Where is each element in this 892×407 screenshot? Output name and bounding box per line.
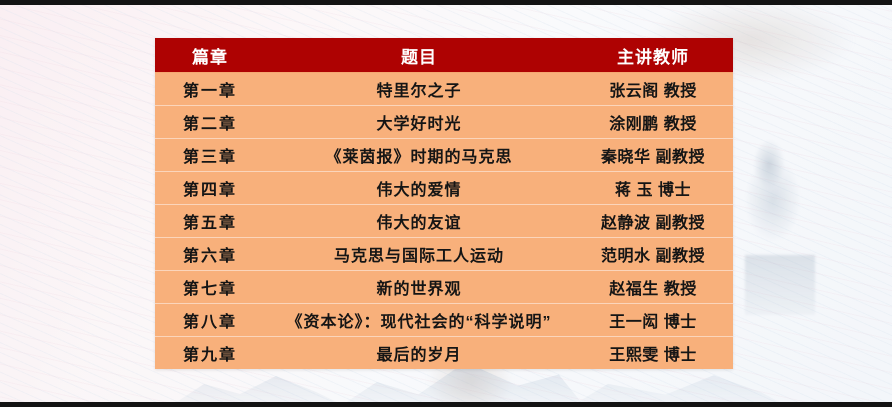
cell-title: 《资本论》：现代社会的“科学说明” [265,304,573,337]
slide-canvas: 篇章 题目 主讲教师 第一章特里尔之子张云阁 教授第二章大学好时光涂刚鹏 教授第… [0,0,892,407]
cell-chapter: 第九章 [155,337,265,370]
cell-lecturer: 赵福生 教授 [573,271,733,304]
cell-lecturer: 秦晓华 副教授 [573,139,733,172]
table-row: 第二章大学好时光涂刚鹏 教授 [155,106,733,139]
cell-title: 特里尔之子 [265,73,573,106]
cell-chapter: 第三章 [155,139,265,172]
cell-chapter: 第二章 [155,106,265,139]
cell-lecturer: 王熙雯 博士 [573,337,733,370]
slide-edge-bottom [0,402,892,407]
cell-chapter: 第一章 [155,73,265,106]
table-row: 第五章伟大的友谊赵静波 副教授 [155,205,733,238]
cell-lecturer: 赵静波 副教授 [573,205,733,238]
course-chapter-table: 篇章 题目 主讲教师 第一章特里尔之子张云阁 教授第二章大学好时光涂刚鹏 教授第… [155,38,733,369]
table-row: 第九章最后的岁月王熙雯 博士 [155,337,733,370]
cell-title: 新的世界观 [265,271,573,304]
table-row: 第一章特里尔之子张云阁 教授 [155,73,733,106]
cell-title: 伟大的爱情 [265,172,573,205]
column-header-title: 题目 [265,38,573,73]
table-row: 第七章新的世界观赵福生 教授 [155,271,733,304]
cell-lecturer: 张云阁 教授 [573,73,733,106]
table-row: 第四章伟大的爱情蒋 玉 博士 [155,172,733,205]
cell-title: 伟大的友谊 [265,205,573,238]
background-statue-pedestal [745,255,815,315]
column-header-lecturer: 主讲教师 [573,38,733,73]
table-row: 第六章马克思与国际工人运动范明水 副教授 [155,238,733,271]
table-body: 第一章特里尔之子张云阁 教授第二章大学好时光涂刚鹏 教授第三章《莱茵报》时期的马… [155,73,733,370]
table-header: 篇章 题目 主讲教师 [155,38,733,73]
cell-title: 大学好时光 [265,106,573,139]
cell-lecturer: 蒋 玉 博士 [573,172,733,205]
table-header-row: 篇章 题目 主讲教师 [155,38,733,73]
cell-chapter: 第五章 [155,205,265,238]
table-row: 第三章《莱茵报》时期的马克思秦晓华 副教授 [155,139,733,172]
cell-chapter: 第八章 [155,304,265,337]
cell-chapter: 第四章 [155,172,265,205]
cell-chapter: 第七章 [155,271,265,304]
cell-lecturer: 范明水 副教授 [573,238,733,271]
cell-title: 马克思与国际工人运动 [265,238,573,271]
cell-title: 最后的岁月 [265,337,573,370]
slide-edge-top [0,0,892,5]
table-row: 第八章《资本论》：现代社会的“科学说明”王一闳 博士 [155,304,733,337]
cell-title: 《莱茵报》时期的马克思 [265,139,573,172]
cell-lecturer: 王一闳 博士 [573,304,733,337]
column-header-chapter: 篇章 [155,38,265,73]
cell-lecturer: 涂刚鹏 教授 [573,106,733,139]
cell-chapter: 第六章 [155,238,265,271]
